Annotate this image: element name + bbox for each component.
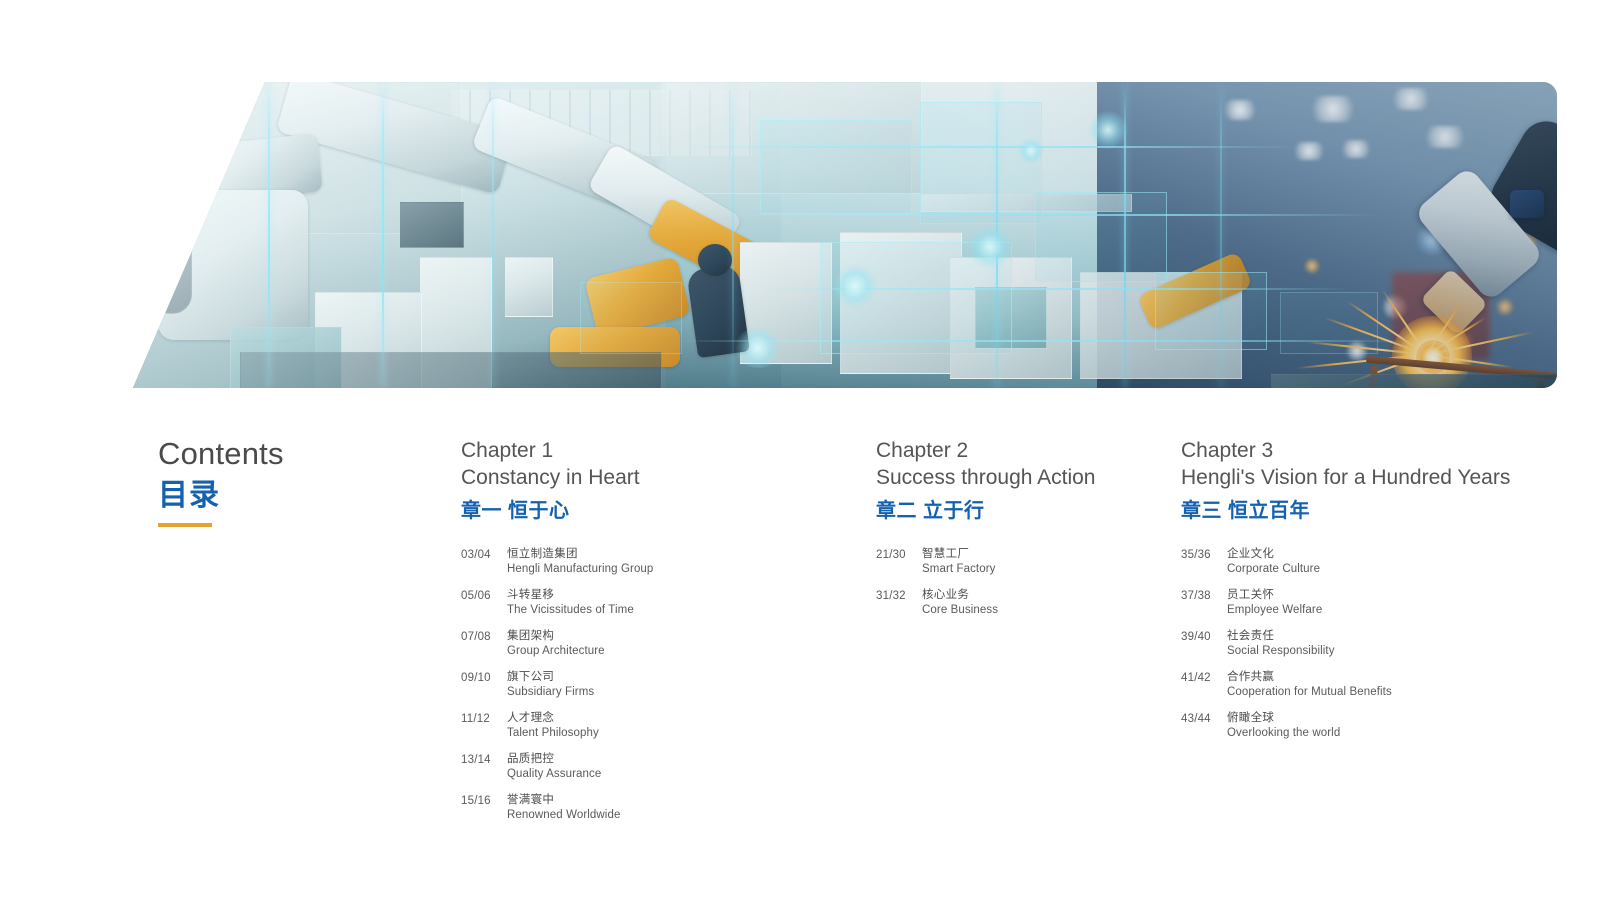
hologram-pane-6 xyxy=(580,282,682,354)
toc-entry-en: Quality Assurance xyxy=(507,767,861,782)
toc-entry-pages: 37/38 xyxy=(1181,588,1227,604)
hologram-node-5 xyxy=(1018,138,1044,164)
toc-entry-cn: 品质把控 xyxy=(507,752,861,767)
toc-entry-en: Group Architecture xyxy=(507,644,861,659)
chapter-column-2: Chapter 2 Success through Action 章二 立于行 … xyxy=(876,437,1166,629)
ceiling-light-4 xyxy=(1338,140,1374,158)
ceiling-light-6 xyxy=(1220,100,1260,120)
hologram-node-4 xyxy=(968,224,1012,270)
toc-entry-cn: 集团架构 xyxy=(507,629,861,644)
chapter-3-number: Chapter 3 xyxy=(1181,437,1581,464)
toc-entry-text: 智慧工厂 Smart Factory xyxy=(922,547,1166,577)
toc-entry-cn: 誉满寰中 xyxy=(507,793,861,808)
chapter-2-entry-list: 21/30 智慧工厂 Smart Factory 31/32 核心业务 Core… xyxy=(876,547,1166,618)
toc-entry-pages: 15/16 xyxy=(461,793,507,809)
toc-entry-cn: 俯瞰全球 xyxy=(1227,711,1581,726)
hologram-pane-2 xyxy=(920,102,1042,224)
chapter-column-1: Chapter 1 Constancy in Heart 章一 恒于心 03/0… xyxy=(461,437,861,834)
toc-entry-text: 社会责任 Social Responsibility xyxy=(1227,629,1581,659)
chapter-1-title-cn: 章一 恒于心 xyxy=(461,496,861,526)
chapter-2-number: Chapter 2 xyxy=(876,437,1166,464)
toc-entry-pages: 11/12 xyxy=(461,711,507,727)
toc-entry-en: Smart Factory xyxy=(922,562,1166,577)
ceiling-light-3 xyxy=(1290,142,1328,160)
toc-entry-text: 俯瞰全球 Overlooking the world xyxy=(1227,711,1581,741)
hologram-node-1 xyxy=(1088,110,1128,150)
hologram-pane-1 xyxy=(760,120,912,214)
toc-entry-en: Subsidiary Firms xyxy=(507,685,861,700)
toc-entry-text: 人才理念 Talent Philosophy xyxy=(507,711,861,741)
chapter-3-title-en: Hengli's Vision for a Hundred Years xyxy=(1181,464,1581,491)
bokeh-warm-2 xyxy=(1496,298,1514,316)
chapter-1-entry-list: 03/04 恒立制造集团 Hengli Manufacturing Group … xyxy=(461,547,861,823)
hologram-node-2 xyxy=(832,264,878,308)
robot-joint-shadow-left xyxy=(150,232,192,314)
hero-image-clip xyxy=(120,82,1557,388)
toc-entry[interactable]: 41/42 合作共赢 Cooperation for Mutual Benefi… xyxy=(1181,670,1581,700)
toc-entry[interactable]: 39/40 社会责任 Social Responsibility xyxy=(1181,629,1581,659)
toc-entry-pages: 09/10 xyxy=(461,670,507,686)
toc-entry-en: Corporate Culture xyxy=(1227,562,1581,577)
toc-entry-cn: 员工关怀 xyxy=(1227,588,1581,603)
toc-entry-pages: 41/42 xyxy=(1181,670,1227,686)
toc-entry-text: 集团架构 Group Architecture xyxy=(507,629,861,659)
chapter-2-title-en: Success through Action xyxy=(876,464,1166,491)
toc-entry-text: 斗转星移 The Vicissitudes of Time xyxy=(507,588,861,618)
toc-entry-text: 品质把控 Quality Assurance xyxy=(507,752,861,782)
toc-entry-text: 核心业务 Core Business xyxy=(922,588,1166,618)
hologram-vline-1 xyxy=(268,82,270,388)
toc-entry-pages: 43/44 xyxy=(1181,711,1227,727)
toc-entry-en: Cooperation for Mutual Benefits xyxy=(1227,685,1581,700)
welding-robot-cable-block xyxy=(1510,190,1544,218)
toc-entry-pages: 31/32 xyxy=(876,588,922,604)
toc-entry-pages: 13/14 xyxy=(461,752,507,768)
toc-entry-cn: 人才理念 xyxy=(507,711,861,726)
toc-entry-pages: 39/40 xyxy=(1181,629,1227,645)
toc-entry-en: Overlooking the world xyxy=(1227,726,1581,741)
toc-entry-en: Talent Philosophy xyxy=(507,726,861,741)
toc-entry[interactable]: 37/38 员工关怀 Employee Welfare xyxy=(1181,588,1581,618)
toc-entry[interactable]: 13/14 品质把控 Quality Assurance xyxy=(461,752,861,782)
toc-entry-text: 恒立制造集团 Hengli Manufacturing Group xyxy=(507,547,861,577)
toc-entry-cn: 旗下公司 xyxy=(507,670,861,685)
toc-entry-en: Social Responsibility xyxy=(1227,644,1581,659)
toc-entry-text: 誉满寰中 Renowned Worldwide xyxy=(507,793,861,823)
chapter-3-entry-list: 35/36 企业文化 Corporate Culture 37/38 员工关怀 … xyxy=(1181,547,1581,741)
machine-opening-dark xyxy=(400,202,464,248)
chapter-column-3: Chapter 3 Hengli's Vision for a Hundred … xyxy=(1181,437,1581,752)
toc-entry[interactable]: 11/12 人才理念 Talent Philosophy xyxy=(461,711,861,741)
toc-entry[interactable]: 05/06 斗转星移 The Vicissitudes of Time xyxy=(461,588,861,618)
toc-entry-pages: 05/06 xyxy=(461,588,507,604)
toc-entry[interactable]: 21/30 智慧工厂 Smart Factory xyxy=(876,547,1166,577)
control-panel xyxy=(505,257,553,317)
toc-entry[interactable]: 31/32 核心业务 Core Business xyxy=(876,588,1166,618)
toc-entry-en: Employee Welfare xyxy=(1227,603,1581,618)
hologram-node-3 xyxy=(732,328,784,368)
toc-entry-cn: 斗转星移 xyxy=(507,588,861,603)
hologram-vline-3 xyxy=(492,82,494,388)
toc-entry-pages: 03/04 xyxy=(461,547,507,563)
toc-entry-text: 旗下公司 Subsidiary Firms xyxy=(507,670,861,700)
hero-banner xyxy=(0,82,1600,388)
conveyor-shadow xyxy=(240,352,662,388)
toc-entry-cn: 恒立制造集团 xyxy=(507,547,861,562)
toc-entry[interactable]: 43/44 俯瞰全球 Overlooking the world xyxy=(1181,711,1581,741)
contents-heading: Contents 目录 xyxy=(158,434,438,527)
hologram-vline-2 xyxy=(382,82,384,388)
toc-entry-en: Renowned Worldwide xyxy=(507,808,861,823)
contents-title-en: Contents xyxy=(158,434,438,474)
factory-robotics-photo xyxy=(120,82,1557,388)
toc-entry[interactable]: 35/36 企业文化 Corporate Culture xyxy=(1181,547,1581,577)
contents-title-cn: 目录 xyxy=(158,476,438,516)
worker-head xyxy=(698,244,732,276)
toc-entry-cn: 合作共赢 xyxy=(1227,670,1581,685)
toc-entry-pages: 07/08 xyxy=(461,629,507,645)
bokeh-white-2 xyxy=(1346,340,1368,362)
toc-entry-text: 企业文化 Corporate Culture xyxy=(1227,547,1581,577)
toc-entry-en: Core Business xyxy=(922,603,1166,618)
robot-arm-base-left xyxy=(158,190,308,340)
toc-entry-cn: 社会责任 xyxy=(1227,629,1581,644)
toc-entry[interactable]: 07/08 集团架构 Group Architecture xyxy=(461,629,861,659)
toc-entry-text: 员工关怀 Employee Welfare xyxy=(1227,588,1581,618)
toc-entry-cn: 核心业务 xyxy=(922,588,1166,603)
chapter-1-title-en: Constancy in Heart xyxy=(461,464,861,491)
toc-entry-text: 合作共赢 Cooperation for Mutual Benefits xyxy=(1227,670,1581,700)
toc-entry-en: The Vicissitudes of Time xyxy=(507,603,861,618)
toc-entry[interactable]: 09/10 旗下公司 Subsidiary Firms xyxy=(461,670,861,700)
hologram-pane-4 xyxy=(1035,192,1167,282)
toc-entry-cn: 智慧工厂 xyxy=(922,547,1166,562)
toc-entry[interactable]: 15/16 誉满寰中 Renowned Worldwide xyxy=(461,793,861,823)
chapter-3-title-cn: 章三 恒立百年 xyxy=(1181,496,1581,526)
ceiling-light-2 xyxy=(1388,88,1434,110)
contents-accent-rule xyxy=(158,523,212,527)
ceiling-light-1 xyxy=(1306,96,1360,122)
toc-entry-pages: 35/36 xyxy=(1181,547,1227,563)
ceiling-light-5 xyxy=(1420,126,1470,148)
toc-entry-en: Hengli Manufacturing Group xyxy=(507,562,861,577)
work-table xyxy=(1270,374,1557,388)
toc-entry-pages: 21/30 xyxy=(876,547,922,563)
hologram-pane-5 xyxy=(1155,272,1267,350)
toc-entry-cn: 企业文化 xyxy=(1227,547,1581,562)
toc-entry[interactable]: 03/04 恒立制造集团 Hengli Manufacturing Group xyxy=(461,547,861,577)
chapter-2-title-cn: 章二 立于行 xyxy=(876,496,1166,526)
chapter-1-number: Chapter 1 xyxy=(461,437,861,464)
bokeh-warm-5 xyxy=(1304,258,1320,274)
